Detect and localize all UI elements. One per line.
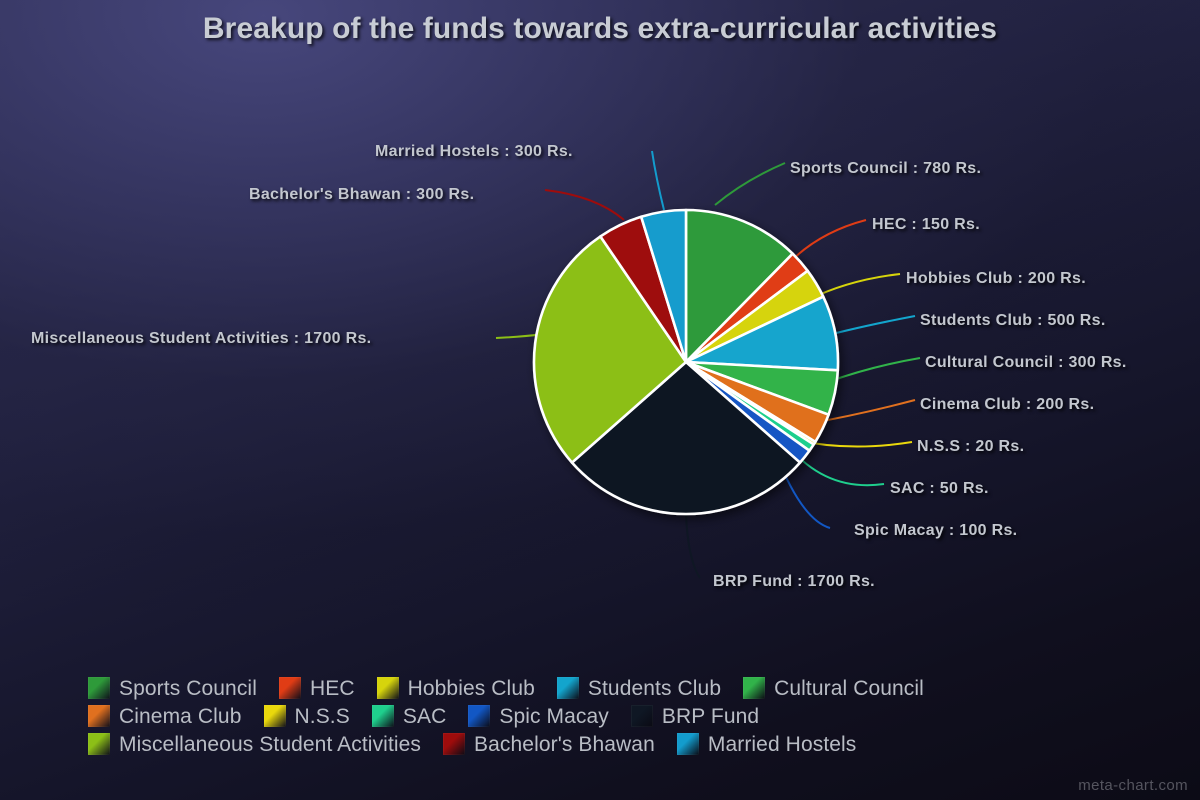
legend-item-label: BRP Fund xyxy=(662,706,759,727)
watermark: meta-chart.com xyxy=(1078,777,1188,794)
pie-callout-label: Spic Macay : 100 Rs. xyxy=(854,522,1017,540)
pie-callout-label: HEC : 150 Rs. xyxy=(872,216,980,234)
legend-item[interactable]: Married Hostels xyxy=(677,733,857,755)
legend-item-label: Spic Macay xyxy=(499,706,609,727)
pie-callout-label: Students Club : 500 Rs. xyxy=(920,312,1106,330)
leader-line xyxy=(652,151,664,210)
pie-callout-label: Married Hostels : 300 Rs. xyxy=(375,143,573,161)
chart-canvas: Breakup of the funds towards extra-curri… xyxy=(0,0,1200,800)
legend-item-label: Cultural Council xyxy=(774,678,924,699)
legend-item-label: Students Club xyxy=(588,678,721,699)
leader-line xyxy=(715,163,785,205)
legend-item-label: Sports Council xyxy=(119,678,257,699)
legend-item-label: SAC xyxy=(403,706,446,727)
legend: Sports CouncilHECHobbies ClubStudents Cl… xyxy=(88,674,1148,758)
pie-callout-label: Cinema Club : 200 Rs. xyxy=(920,396,1094,414)
leader-line xyxy=(790,220,866,262)
legend-row: Miscellaneous Student ActivitiesBachelor… xyxy=(88,730,1148,758)
legend-item[interactable]: Cultural Council xyxy=(743,677,924,699)
legend-item[interactable]: Hobbies Club xyxy=(377,677,535,699)
leader-line xyxy=(545,190,624,220)
legend-swatch xyxy=(557,677,579,699)
pie-callout-label: Hobbies Club : 200 Rs. xyxy=(906,270,1086,288)
legend-swatch xyxy=(743,677,765,699)
legend-item[interactable]: BRP Fund xyxy=(631,705,759,727)
legend-swatch xyxy=(88,733,110,755)
legend-item[interactable]: Spic Macay xyxy=(468,705,609,727)
legend-item[interactable]: Students Club xyxy=(557,677,721,699)
legend-item-label: Married Hostels xyxy=(708,734,857,755)
legend-item[interactable]: Cinema Club xyxy=(88,705,242,727)
legend-item-label: Hobbies Club xyxy=(408,678,535,699)
pie-slices xyxy=(534,210,838,514)
pie-callout-label: Cultural Council : 300 Rs. xyxy=(925,354,1127,372)
legend-item[interactable]: SAC xyxy=(372,705,446,727)
legend-item[interactable]: Bachelor's Bhawan xyxy=(443,733,655,755)
legend-item[interactable]: Sports Council xyxy=(88,677,257,699)
legend-swatch xyxy=(279,677,301,699)
legend-item[interactable]: HEC xyxy=(279,677,355,699)
pie-callout-label: BRP Fund : 1700 Rs. xyxy=(713,573,875,591)
legend-row: Sports CouncilHECHobbies ClubStudents Cl… xyxy=(88,674,1148,702)
legend-row: Cinema ClubN.S.SSACSpic MacayBRP Fund xyxy=(88,702,1148,730)
pie-callout-label: Bachelor's Bhawan : 300 Rs. xyxy=(249,186,474,204)
legend-swatch xyxy=(443,733,465,755)
pie-callout-label: Miscellaneous Student Activities : 1700 … xyxy=(31,330,371,348)
legend-item-label: Bachelor's Bhawan xyxy=(474,734,655,755)
legend-swatch xyxy=(468,705,490,727)
legend-swatch xyxy=(677,733,699,755)
legend-item-label: Cinema Club xyxy=(119,706,242,727)
pie-callout-label: Sports Council : 780 Rs. xyxy=(790,160,981,178)
legend-item[interactable]: N.S.S xyxy=(264,705,350,727)
legend-swatch xyxy=(88,705,110,727)
legend-item-label: HEC xyxy=(310,678,355,699)
legend-swatch xyxy=(372,705,394,727)
legend-swatch xyxy=(377,677,399,699)
legend-swatch xyxy=(264,705,286,727)
pie-callout-label: SAC : 50 Rs. xyxy=(890,480,989,498)
legend-item-label: N.S.S xyxy=(295,706,350,727)
legend-swatch xyxy=(88,677,110,699)
legend-item[interactable]: Miscellaneous Student Activities xyxy=(88,733,421,755)
legend-swatch xyxy=(631,705,653,727)
leader-line xyxy=(686,514,700,578)
legend-item-label: Miscellaneous Student Activities xyxy=(119,734,421,755)
pie-callout-label: N.S.S : 20 Rs. xyxy=(917,438,1024,456)
